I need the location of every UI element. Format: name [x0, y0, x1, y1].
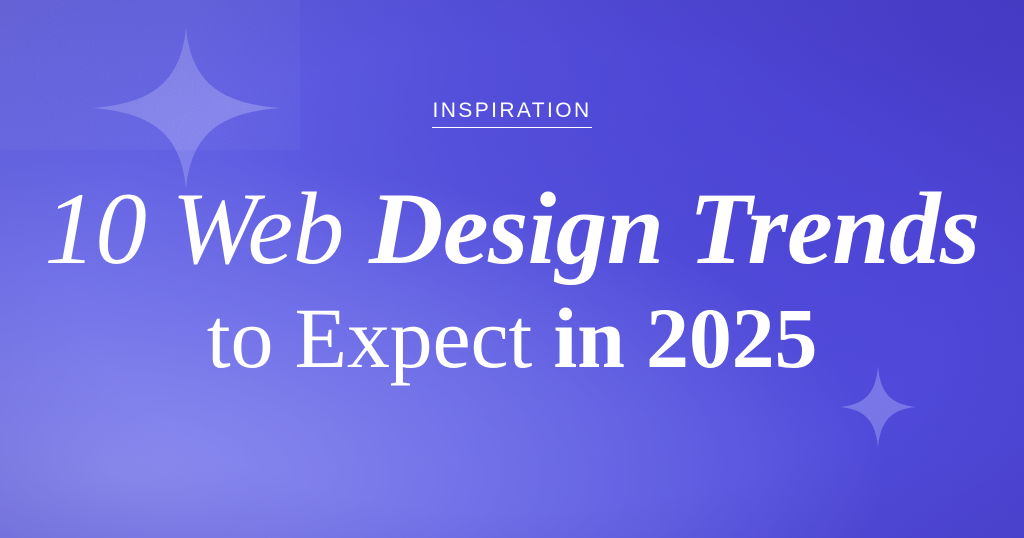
banner-canvas: INSPIRATION 10 Web Design Trends to Expe… [0, 0, 1024, 538]
eyebrow-row: INSPIRATION [0, 99, 1024, 128]
headline-line-1: 10 Web Design Trends [0, 178, 1024, 281]
headline-segment-1a: 10 Web [44, 172, 369, 286]
banner-content: INSPIRATION 10 Web Design Trends to Expe… [0, 0, 1024, 538]
headline-segment-1b: Design Trends [369, 172, 980, 286]
category-label: INSPIRATION [432, 99, 591, 128]
headline-segment-2b: in 2025 [553, 290, 817, 386]
page-title: 10 Web Design Trends to Expect in 2025 [0, 178, 1024, 381]
headline-segment-2a: to Expect [207, 290, 554, 386]
headline-line-2: to Expect in 2025 [0, 295, 1024, 381]
